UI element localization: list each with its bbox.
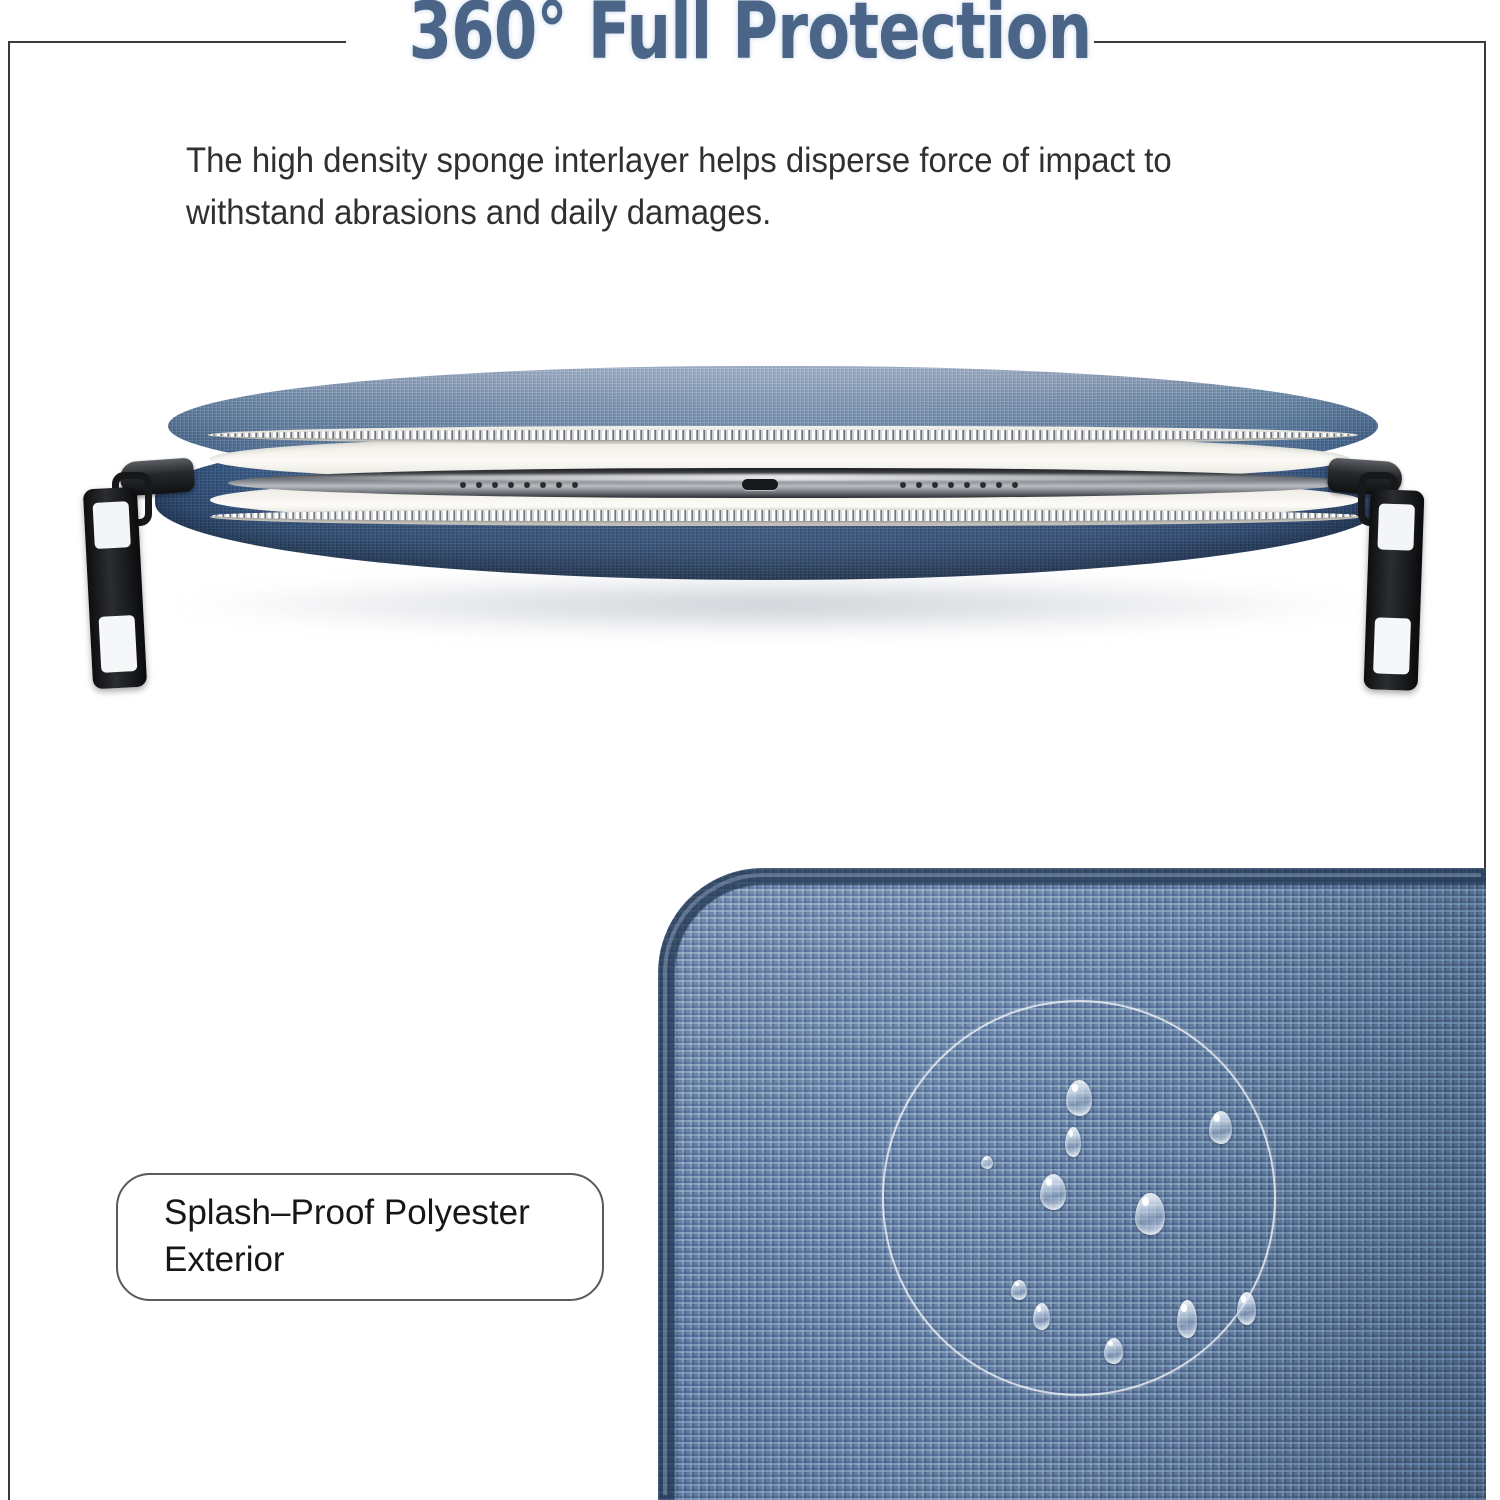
water-droplet bbox=[1104, 1338, 1123, 1364]
product-feature-page: 360° Full Protection The high density sp… bbox=[0, 0, 1500, 1500]
zipper-pull-tab-right bbox=[1364, 489, 1425, 691]
frame-border-left bbox=[8, 41, 10, 1500]
callout-line-2: Exterior bbox=[164, 1237, 602, 1284]
feature-callout-label: Splash–Proof Polyester Exterior bbox=[116, 1173, 604, 1301]
zipper-teeth-upper bbox=[210, 430, 1355, 440]
water-droplet bbox=[1040, 1174, 1066, 1210]
tablet-edge-highlight bbox=[260, 474, 1320, 481]
tablet-device bbox=[228, 468, 1348, 498]
speaker-grille-right bbox=[900, 481, 1018, 489]
zipper-pull-tab-left bbox=[83, 487, 147, 690]
water-droplet-highlight-circle bbox=[882, 1000, 1276, 1396]
water-droplet bbox=[1066, 1080, 1092, 1116]
water-droplet bbox=[981, 1156, 993, 1169]
water-droplet bbox=[1209, 1111, 1232, 1144]
water-droplet bbox=[1065, 1127, 1081, 1157]
usb-c-port bbox=[742, 479, 778, 490]
water-droplet bbox=[1011, 1280, 1027, 1300]
water-droplet bbox=[1135, 1193, 1165, 1235]
page-subtitle: The high density sponge interlayer helps… bbox=[186, 135, 1314, 239]
water-droplet bbox=[1033, 1303, 1050, 1330]
zipper-teeth-lower bbox=[212, 510, 1358, 521]
speaker-grille-left bbox=[460, 481, 578, 489]
sleeve-product-image bbox=[60, 360, 1440, 720]
water-droplet bbox=[1237, 1292, 1256, 1325]
water-droplet bbox=[1177, 1300, 1197, 1338]
sleeve-drop-shadow bbox=[180, 575, 1360, 635]
callout-line-1: Splash–Proof Polyester bbox=[164, 1190, 602, 1237]
page-title: 360° Full Protection bbox=[150, 0, 1350, 74]
